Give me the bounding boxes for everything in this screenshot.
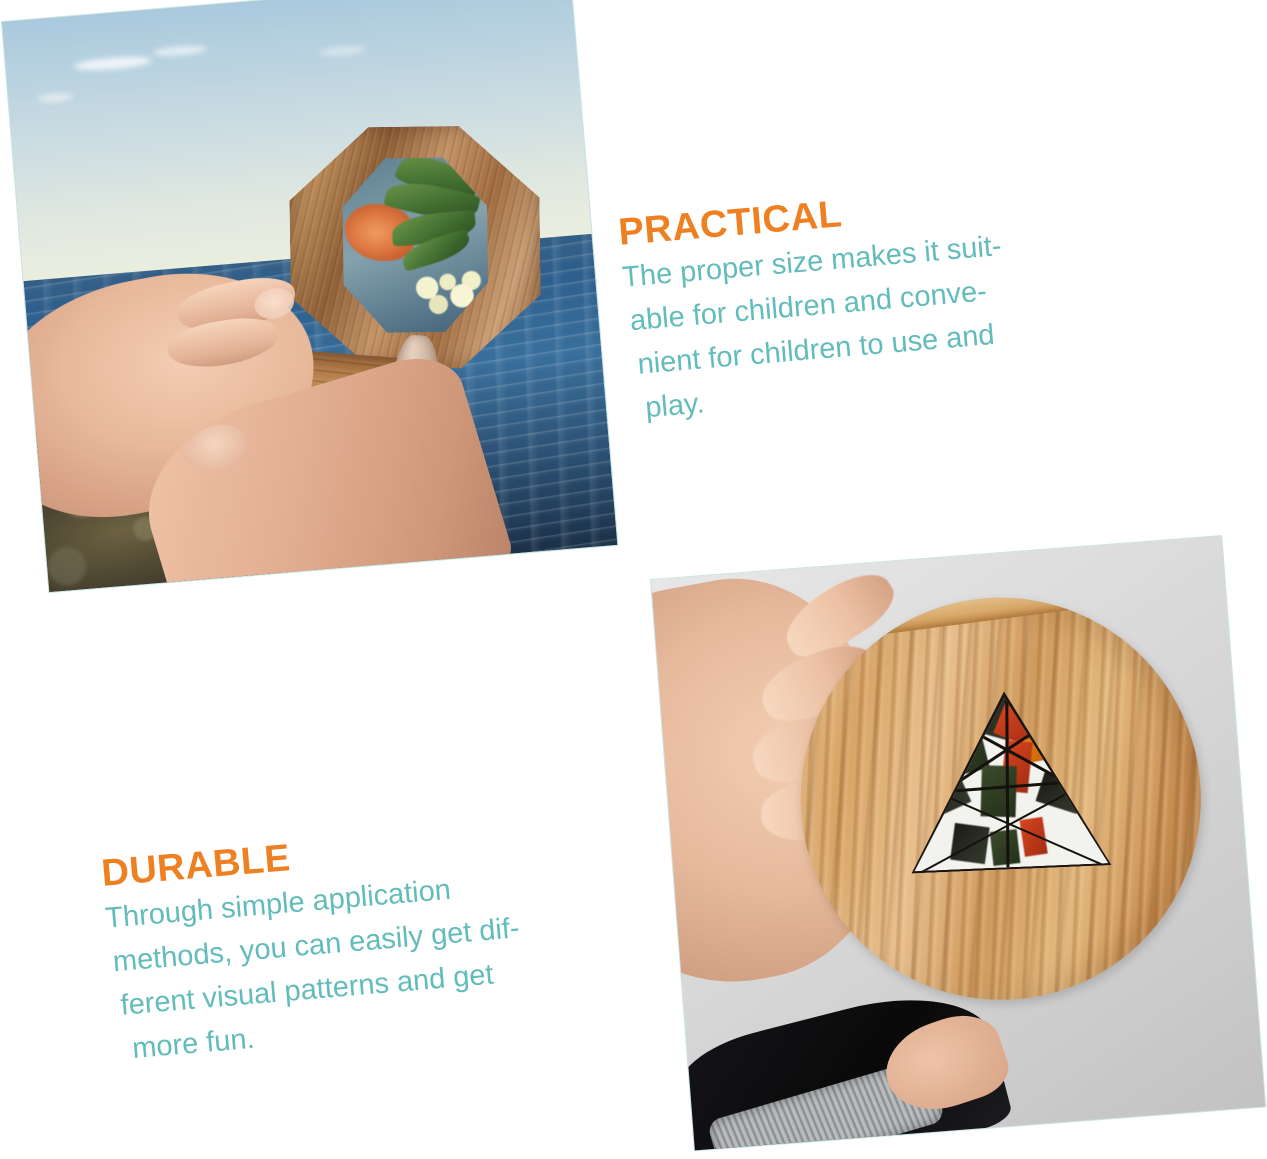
hexagon-kaleidoscope-head [289,125,542,370]
mirror-shard [989,829,1020,866]
photo-disc-kaleidoscope[interactable] [651,536,1265,1150]
mirror-shard [980,765,1016,817]
cloud [37,93,74,104]
feature-durable: DURABLE Through simple application metho… [100,811,636,1072]
cloud [74,54,153,71]
cloud [319,45,366,57]
round-wooden-disc [789,586,1212,1011]
photo-seaside-kaleidoscope[interactable] [2,0,617,592]
feature-practical: PRACTICAL The proper size makes it suit-… [617,172,1134,431]
cloud [153,45,208,58]
seaside-scene [2,0,617,592]
page-canvas: PRACTICAL The proper size makes it suit-… [0,0,1267,1159]
